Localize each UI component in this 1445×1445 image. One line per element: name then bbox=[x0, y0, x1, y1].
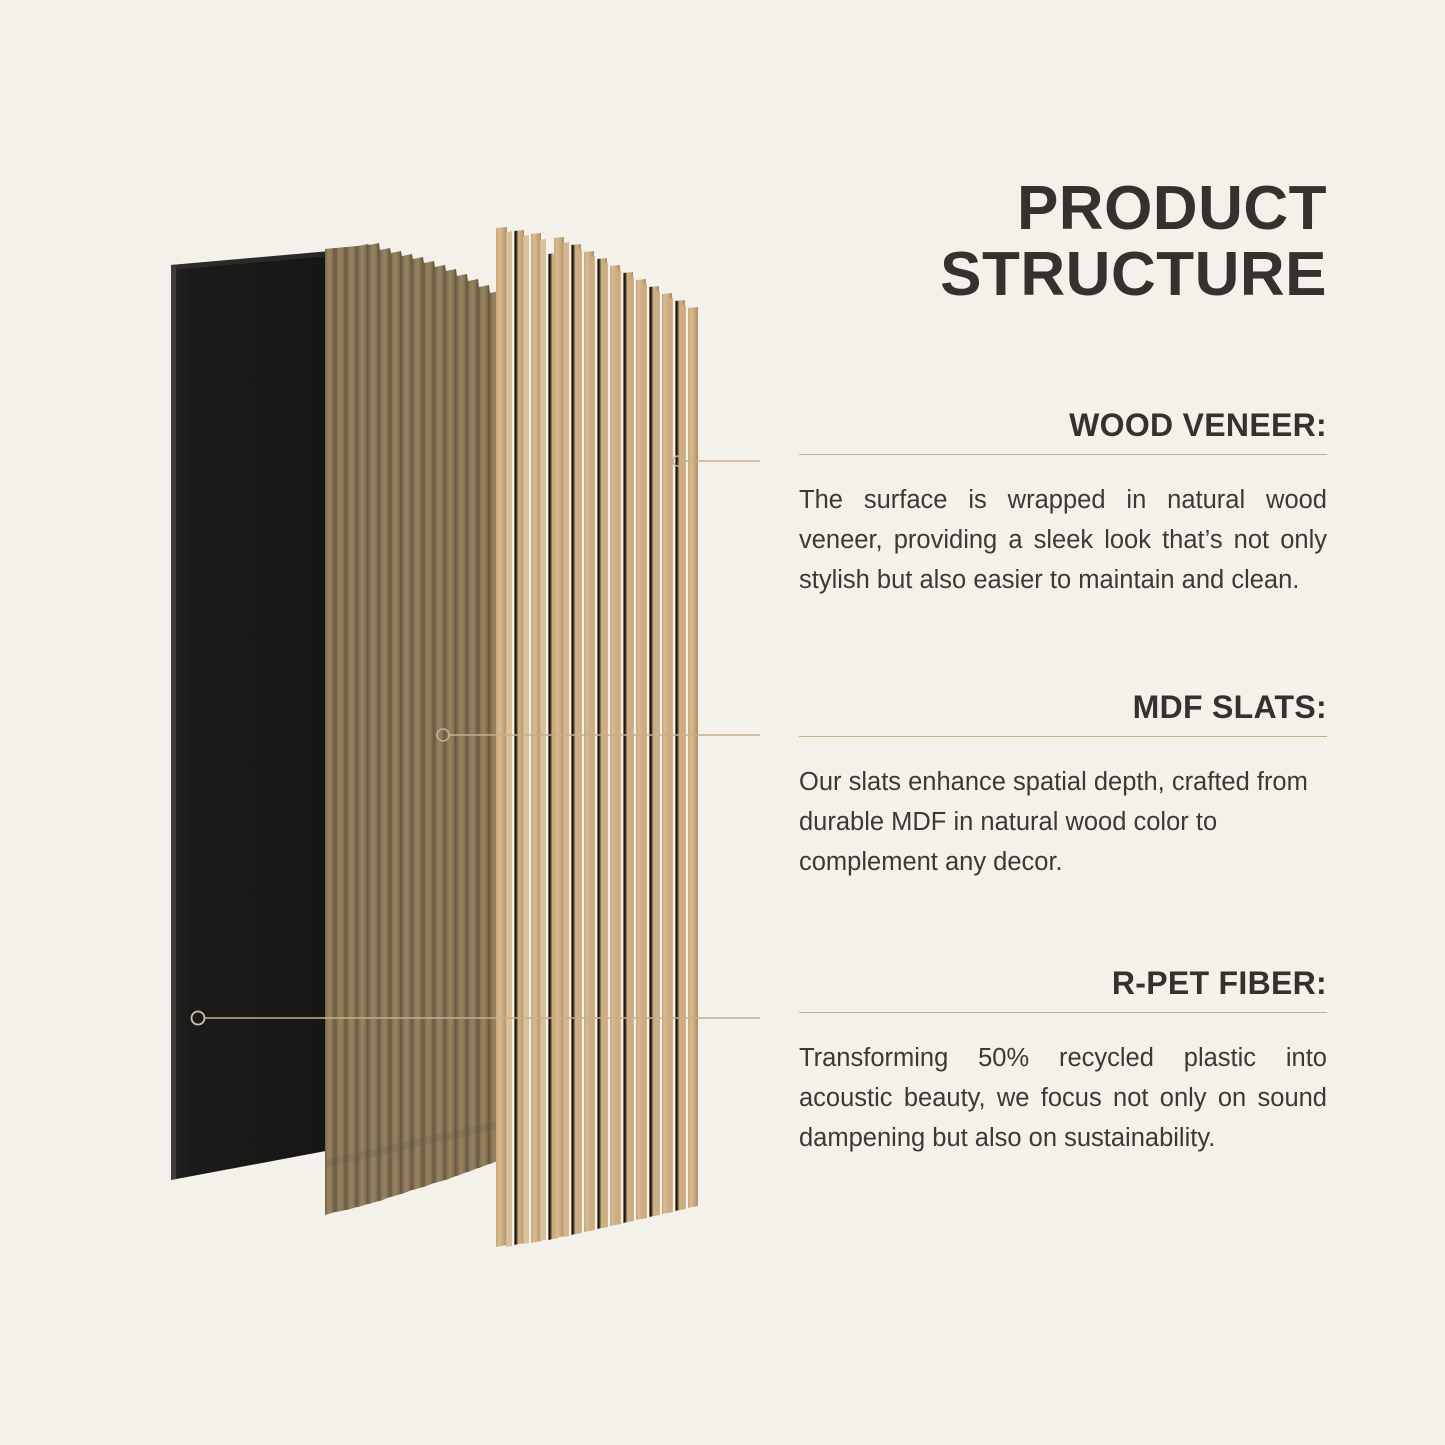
section-divider-wood-veneer bbox=[799, 454, 1327, 455]
section-heading-r-pet-fiber: R-PET FIBER: bbox=[799, 966, 1327, 1012]
section-wood-veneer: WOOD VENEER: The surface is wrapped in n… bbox=[799, 408, 1327, 600]
r-pet-backing-panel bbox=[171, 251, 331, 1180]
section-body-wood-veneer: The surface is wrapped in natural wood v… bbox=[799, 481, 1327, 600]
infographic-canvas: PRODUCT STRUCTURE WOOD VENEER: The surfa… bbox=[0, 0, 1445, 1445]
section-heading-mdf-slats: MDF SLATS: bbox=[799, 690, 1327, 736]
mdf-slat-layer bbox=[325, 243, 500, 1215]
page-title: PRODUCT STRUCTURE bbox=[767, 176, 1327, 309]
product-exploded-diagram bbox=[0, 0, 760, 1445]
page-title-line-2: STRUCTURE bbox=[767, 242, 1327, 308]
section-body-mdf-slats: Our slats enhance spatial depth, crafted… bbox=[799, 763, 1327, 882]
content-column: PRODUCT STRUCTURE WOOD VENEER: The surfa… bbox=[760, 0, 1445, 1445]
leader-wood-veneer bbox=[673, 456, 760, 466]
section-mdf-slats: MDF SLATS: Our slats enhance spatial dep… bbox=[799, 690, 1327, 882]
wood-veneer-slat-layer bbox=[496, 227, 698, 1247]
section-divider-mdf-slats bbox=[799, 736, 1327, 737]
section-divider-r-pet-fiber bbox=[799, 1012, 1327, 1013]
section-r-pet-fiber: R-PET FIBER: Transforming 50% recycled p… bbox=[799, 966, 1327, 1158]
section-heading-wood-veneer: WOOD VENEER: bbox=[799, 408, 1327, 454]
page-title-line-1: PRODUCT bbox=[767, 176, 1327, 242]
section-body-r-pet-fiber: Transforming 50% recycled plastic into a… bbox=[799, 1039, 1327, 1158]
